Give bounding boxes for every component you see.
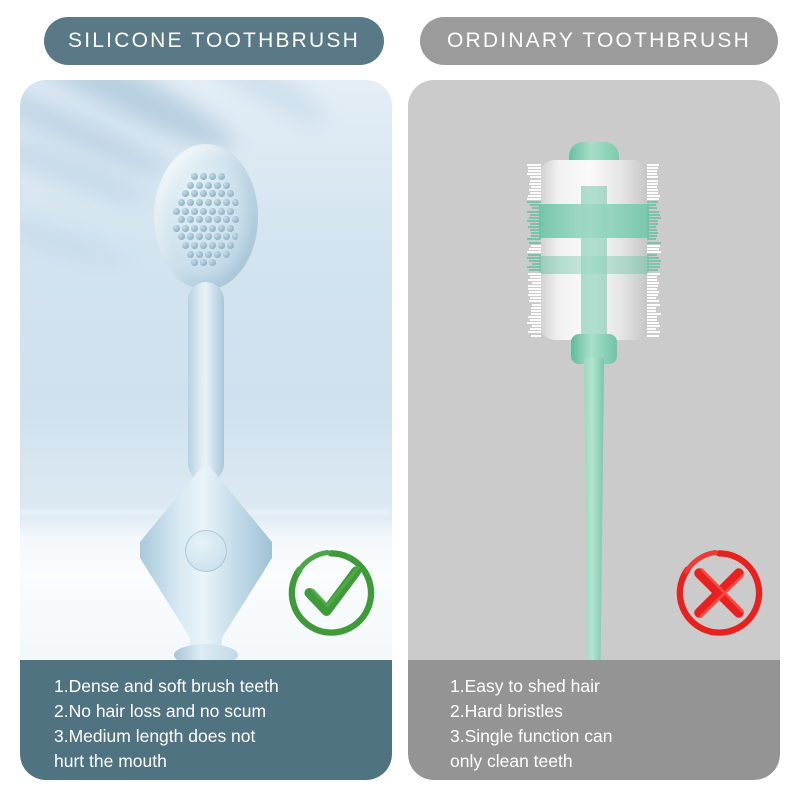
ordinary-product-photo xyxy=(408,80,780,660)
green-check-icon xyxy=(286,548,376,638)
bristle xyxy=(647,223,658,225)
bristle xyxy=(647,307,656,309)
bristle xyxy=(647,211,659,213)
bristle xyxy=(647,325,660,327)
bristle xyxy=(647,294,658,296)
bristle xyxy=(647,328,656,330)
comparison-infographic: SILICONE TOOTHBRUSH ORDINARY TOOTHBRUSH xyxy=(0,0,800,800)
silicone-nub xyxy=(214,251,221,258)
bristle xyxy=(527,201,541,203)
bristle xyxy=(529,291,541,293)
bristle xyxy=(532,207,541,209)
feature-line: 2.No hair loss and no scum xyxy=(54,699,392,724)
bristle xyxy=(647,300,659,302)
feature-line: 2.Hard bristles xyxy=(450,699,780,724)
bristle xyxy=(527,238,541,240)
bristle xyxy=(531,186,541,188)
bristle xyxy=(647,207,657,209)
silicone-nub xyxy=(214,233,221,240)
silicone-nub xyxy=(209,173,216,180)
bristle xyxy=(647,279,657,281)
comparison-column-silicone: 1.Dense and soft brush teeth 2.No hair l… xyxy=(20,80,392,780)
silicone-nub xyxy=(209,225,216,232)
silicone-nub xyxy=(223,216,230,223)
silicone-nub xyxy=(205,182,212,189)
bristle xyxy=(528,294,541,296)
bristle xyxy=(647,217,661,219)
bristle xyxy=(528,167,541,169)
bristle xyxy=(647,198,659,200)
bristle xyxy=(531,313,541,315)
silicone-nub xyxy=(214,199,221,206)
bristle xyxy=(529,242,541,244)
bristle xyxy=(647,201,658,203)
silicone-button xyxy=(185,530,227,572)
ordinary-feature-caption: 1.Easy to shed hair 2.Hard bristles 3.Si… xyxy=(408,660,780,780)
silicone-neck xyxy=(188,282,224,482)
feature-line: 1.Dense and soft brush teeth xyxy=(54,674,392,699)
silicone-nub xyxy=(200,173,207,180)
bristle xyxy=(528,288,541,290)
silicone-nub xyxy=(209,242,216,249)
comparison-column-ordinary: 1.Easy to shed hair 2.Hard bristles 3.Si… xyxy=(408,80,780,780)
silicone-nub xyxy=(218,208,225,215)
bristle xyxy=(647,238,656,240)
silicone-nub xyxy=(232,199,239,206)
silicone-nub xyxy=(191,259,198,266)
silicone-nub xyxy=(227,190,234,197)
bristle xyxy=(530,276,541,278)
bristle xyxy=(647,235,657,237)
silicone-nub xyxy=(205,233,212,240)
silicone-nub xyxy=(182,242,189,249)
bristle xyxy=(647,291,659,293)
bristle xyxy=(647,288,657,290)
silicone-nub xyxy=(200,190,207,197)
bristle xyxy=(647,204,656,206)
silicone-nub xyxy=(191,208,198,215)
bristle xyxy=(647,232,658,234)
bristle xyxy=(531,235,541,237)
silicone-nub xyxy=(227,242,234,249)
ordinary-handle xyxy=(573,358,615,660)
silicone-product-photo xyxy=(20,80,392,660)
bristle xyxy=(647,322,659,324)
bristle xyxy=(527,198,541,200)
feature-line: 3.Medium length does not xyxy=(54,724,392,749)
bristle xyxy=(647,285,658,287)
feature-line: only clean teeth xyxy=(450,749,780,774)
bristle xyxy=(528,195,541,197)
silicone-nub xyxy=(191,190,198,197)
bristle xyxy=(531,307,541,309)
feature-line: hurt the mouth xyxy=(54,749,392,774)
silicone-nub xyxy=(182,208,189,215)
silicone-nub xyxy=(218,225,225,232)
silicone-nub xyxy=(187,182,194,189)
bristle xyxy=(532,325,541,327)
bristle xyxy=(529,248,541,250)
silicone-nub xyxy=(182,190,189,197)
bristle xyxy=(647,266,660,268)
bristle xyxy=(528,285,541,287)
bristle xyxy=(647,313,661,315)
bristle xyxy=(532,263,541,265)
silicone-nub xyxy=(200,242,207,249)
bristle xyxy=(647,276,657,278)
bristle xyxy=(647,220,658,222)
silicone-nub xyxy=(196,182,203,189)
silicone-nub xyxy=(200,208,207,215)
silicone-nub xyxy=(214,216,221,223)
bristle xyxy=(530,328,541,330)
silicone-nub xyxy=(223,233,230,240)
silicone-nub xyxy=(173,208,180,215)
bristle xyxy=(647,180,658,182)
bristle xyxy=(647,186,657,188)
silicone-nub xyxy=(223,199,230,206)
silicone-nub xyxy=(223,251,230,258)
silicone-nub xyxy=(178,199,185,206)
bristle xyxy=(531,310,541,312)
bristle xyxy=(647,251,661,253)
bristle xyxy=(647,269,658,271)
silicone-nub xyxy=(232,233,239,240)
silicone-nub xyxy=(227,225,234,232)
bristle xyxy=(647,176,658,178)
silicone-nub xyxy=(227,208,234,215)
bristle xyxy=(528,279,541,281)
bristle xyxy=(530,297,541,299)
bristle xyxy=(647,170,657,172)
silicone-nub xyxy=(200,259,207,266)
bristle xyxy=(647,167,658,169)
silicone-nub xyxy=(196,233,203,240)
silicone-nub xyxy=(209,208,216,215)
bristle xyxy=(647,214,660,216)
bristle xyxy=(647,282,659,284)
silicone-nub xyxy=(191,173,198,180)
silicone-nub xyxy=(191,225,198,232)
silicone-nub xyxy=(182,225,189,232)
bristle xyxy=(647,189,658,191)
silicone-feature-caption: 1.Dense and soft brush teeth 2.No hair l… xyxy=(20,660,392,780)
bristle xyxy=(529,260,541,262)
bristle xyxy=(647,192,658,194)
bristle xyxy=(528,254,541,256)
bristle xyxy=(530,319,541,321)
bristle xyxy=(647,226,656,228)
ordinary-toothbrush-illustration xyxy=(519,142,669,660)
bristle xyxy=(647,304,660,306)
bristle xyxy=(647,331,660,333)
red-cross-icon xyxy=(674,548,764,638)
bristle xyxy=(647,316,657,318)
bristle xyxy=(647,263,660,265)
bristle xyxy=(647,319,657,321)
silicone-nub xyxy=(187,216,194,223)
bristle xyxy=(528,273,541,275)
bristle xyxy=(527,164,541,166)
bristle xyxy=(647,173,657,175)
silicone-nub xyxy=(196,216,203,223)
bristle xyxy=(528,316,541,318)
feature-line: 3.Single function can xyxy=(450,724,780,749)
silicone-nub xyxy=(178,233,185,240)
bristle xyxy=(527,257,541,259)
bristle xyxy=(528,331,541,333)
bristle xyxy=(647,335,659,337)
silicone-nub xyxy=(200,225,207,232)
header-badge-silicone-label: SILICONE TOOTHBRUSH xyxy=(68,29,360,53)
bristle xyxy=(647,183,658,185)
bristle xyxy=(531,335,541,337)
silicone-nub xyxy=(178,216,185,223)
bristle xyxy=(530,192,541,194)
silicone-nub xyxy=(205,199,212,206)
bristle xyxy=(647,242,661,244)
bristle xyxy=(527,251,541,253)
silicone-nub xyxy=(205,216,212,223)
header-badge-silicone: SILICONE TOOTHBRUSH xyxy=(44,17,384,65)
bristle xyxy=(647,248,659,250)
silicone-nub xyxy=(196,251,203,258)
silicone-nub xyxy=(191,242,198,249)
silicone-nub xyxy=(205,251,212,258)
bristle xyxy=(529,300,541,302)
bristle xyxy=(532,282,541,284)
bristle xyxy=(529,217,541,219)
silicone-nub xyxy=(223,182,230,189)
bristle xyxy=(647,254,657,256)
header-badge-ordinary-label: ORDINARY TOOTHBRUSH xyxy=(447,29,751,53)
bristle xyxy=(527,322,541,324)
header-badge-ordinary: ORDINARY TOOTHBRUSH xyxy=(420,17,778,65)
bristle xyxy=(647,245,660,247)
silicone-nub xyxy=(232,216,239,223)
bristle xyxy=(527,211,541,213)
bristle xyxy=(647,297,656,299)
silicone-nub xyxy=(187,251,194,258)
silicone-nub xyxy=(173,225,180,232)
bristle xyxy=(530,223,541,225)
bristle xyxy=(647,260,661,262)
ordinary-bristles xyxy=(519,160,669,340)
bristle xyxy=(529,189,541,191)
bristle xyxy=(647,229,657,231)
bristle xyxy=(530,214,541,216)
silicone-toothbrush-illustration xyxy=(131,144,281,660)
bristle xyxy=(529,269,541,271)
leaf-shadow-icon xyxy=(20,207,130,274)
silicone-nub xyxy=(218,242,225,249)
bristle xyxy=(647,273,660,275)
bristle xyxy=(527,266,541,268)
bristle xyxy=(531,232,541,234)
bristle xyxy=(647,257,659,259)
silicone-nub xyxy=(218,190,225,197)
bristle xyxy=(531,245,541,247)
bristle xyxy=(530,180,541,182)
bristle xyxy=(530,229,541,231)
bristle xyxy=(528,170,541,172)
bristle xyxy=(529,183,541,185)
bristle xyxy=(527,173,541,175)
silicone-nub xyxy=(209,190,216,197)
bristle xyxy=(647,164,659,166)
bristle xyxy=(647,310,656,312)
feature-line: 1.Easy to shed hair xyxy=(450,674,780,699)
silicone-nub xyxy=(187,199,194,206)
bristle xyxy=(530,204,541,206)
silicone-nub xyxy=(218,173,225,180)
bristle xyxy=(532,304,541,306)
bristle xyxy=(527,220,541,222)
silicone-nub xyxy=(209,259,216,266)
silicone-bristle-nubs xyxy=(172,166,240,270)
silicone-nub xyxy=(214,182,221,189)
silicone-nub xyxy=(196,199,203,206)
bristle xyxy=(528,226,541,228)
silicone-nub xyxy=(187,233,194,240)
silicone-collar-ring xyxy=(174,644,238,660)
bristle xyxy=(530,176,541,178)
bristle xyxy=(647,195,660,197)
